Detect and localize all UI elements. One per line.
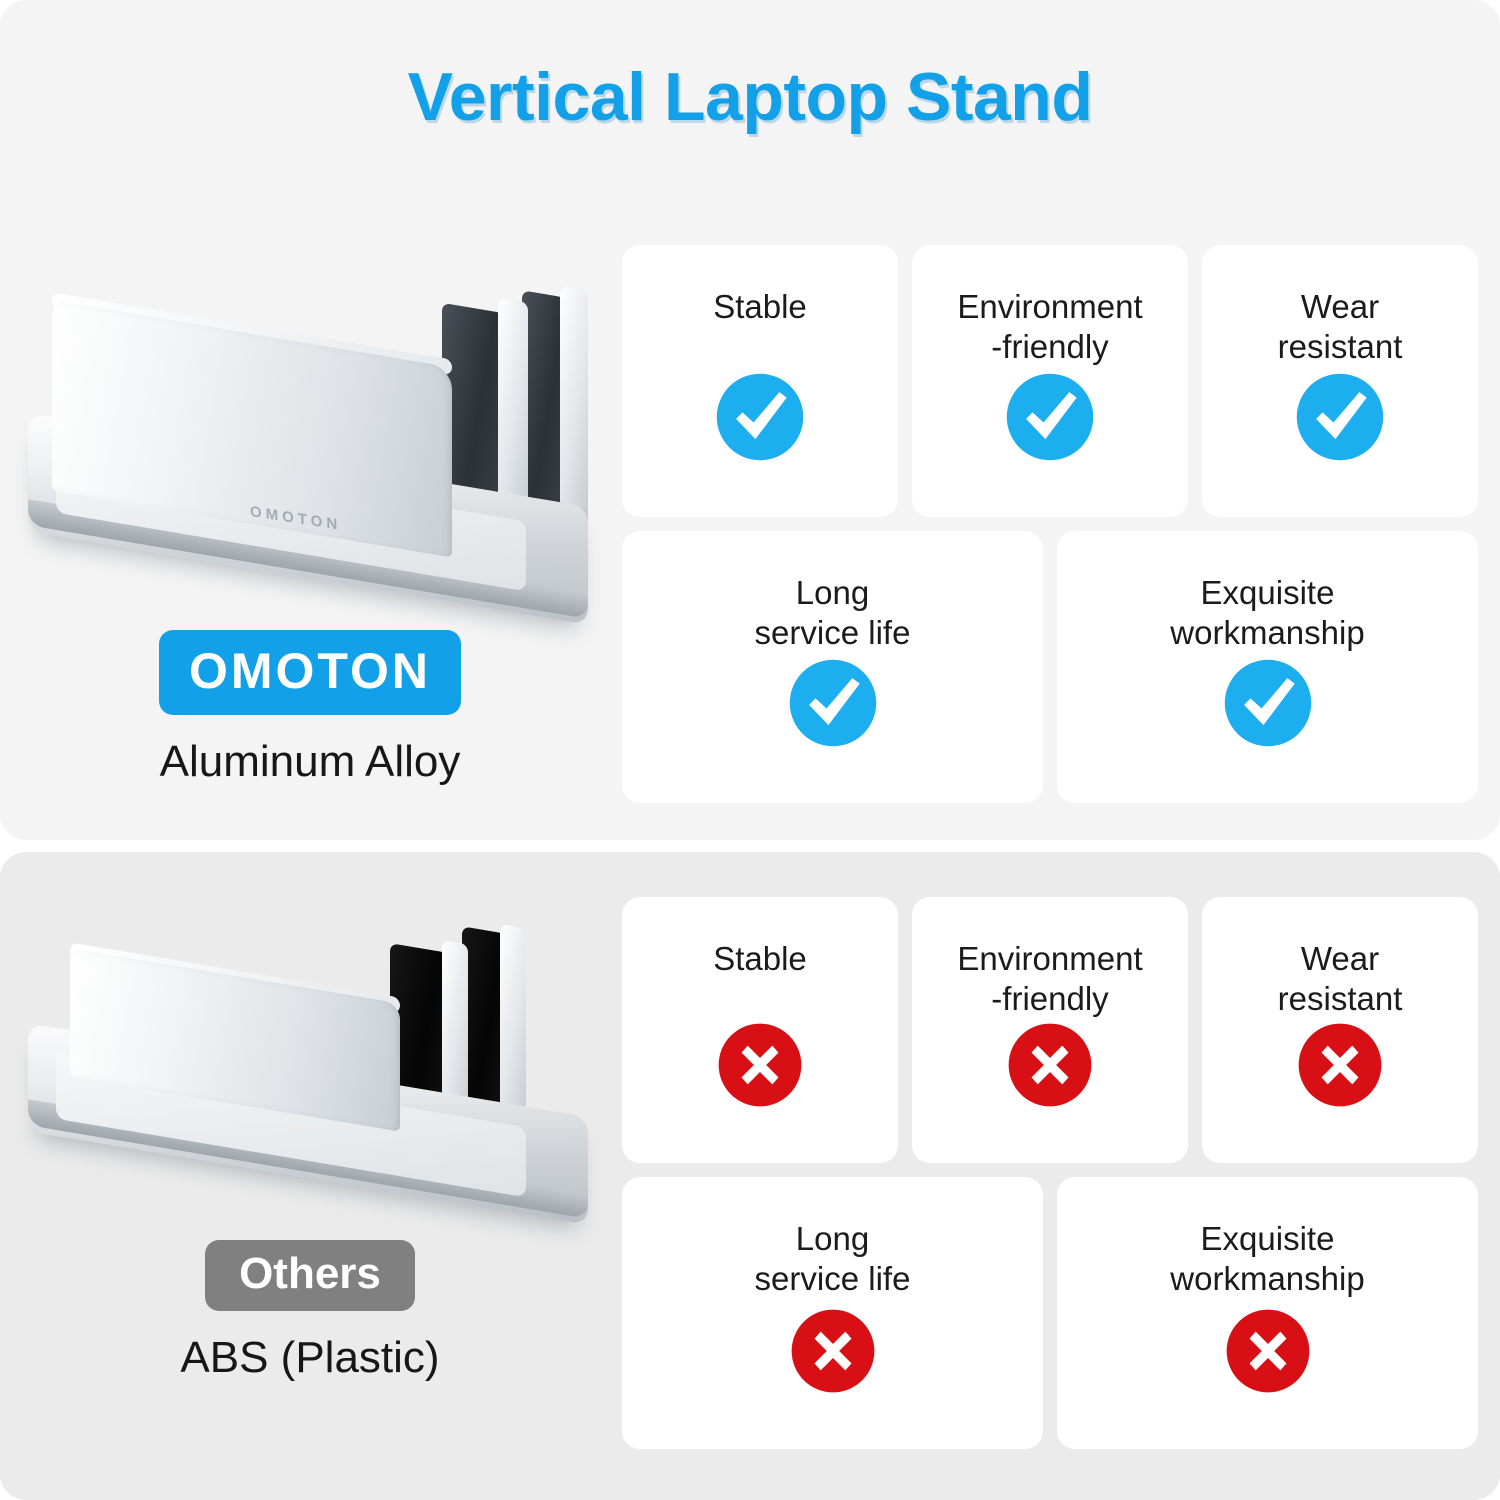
cross-icon: [716, 1021, 804, 1109]
feature-card-stable: Stable: [622, 245, 898, 517]
check-icon: [787, 657, 879, 749]
cross-icon: [1006, 1021, 1094, 1109]
feature-label: Environment -friendly: [957, 287, 1142, 368]
feature-card-wear-resistant: Wear resistant: [1202, 245, 1478, 517]
check-icon: [1004, 371, 1096, 463]
product-column-omoton: OMOTON OMOTON Aluminum Alloy: [10, 300, 610, 787]
feature-row-1: Stable Environment -friendly: [622, 245, 1478, 517]
others-brand-badge: Others: [205, 1240, 415, 1311]
feature-card-stable: Stable: [622, 897, 898, 1163]
material-label-others: ABS (Plastic): [10, 1333, 610, 1383]
material-label-omoton: Aluminum Alloy: [10, 737, 610, 787]
cross-icon: [1224, 1307, 1312, 1395]
feature-label: Long service life: [755, 573, 911, 654]
feature-label: Stable: [713, 287, 807, 327]
feature-label: Long service life: [755, 1219, 911, 1300]
feature-label: Exquisite workmanship: [1170, 573, 1364, 654]
aluminum-laptop-stand-illustration: OMOTON: [10, 300, 610, 630]
product-image-omoton: OMOTON: [10, 300, 610, 630]
cross-icon: [789, 1307, 877, 1395]
infographic-root: Vertical Laptop Stand OMOTON OMOTON Alum…: [0, 0, 1500, 1500]
stand-fin-rear: [560, 286, 588, 529]
feature-row-2: Long service life Exquisite workmanship: [622, 531, 1478, 803]
brand-badge-row-omoton: OMOTON: [10, 630, 610, 715]
feature-label: Wear resistant: [1278, 287, 1403, 368]
product-column-others: Others ABS (Plastic): [10, 880, 610, 1383]
check-icon: [1294, 371, 1386, 463]
feature-grid-others: Stable Environment -friendly: [622, 897, 1478, 1449]
feature-card-long-service-life: Long service life: [622, 1177, 1043, 1449]
omoton-brand-badge: OMOTON: [159, 630, 461, 715]
feature-grid-omoton: Stable Environment -friendly: [622, 245, 1478, 803]
feature-card-wear-resistant: Wear resistant: [1202, 897, 1478, 1163]
feature-card-exquisite-workmanship: Exquisite workmanship: [1057, 1177, 1478, 1449]
feature-card-exquisite-workmanship: Exquisite workmanship: [1057, 531, 1478, 803]
product-image-others: [10, 880, 610, 1240]
plastic-laptop-stand-illustration: [10, 880, 610, 1240]
feature-card-long-service-life: Long service life: [622, 531, 1043, 803]
feature-card-environment-friendly: Environment -friendly: [912, 897, 1188, 1163]
check-icon: [714, 371, 806, 463]
feature-label: Exquisite workmanship: [1170, 1219, 1364, 1300]
page-title: Vertical Laptop Stand: [0, 58, 1500, 136]
feature-label: Stable: [713, 939, 807, 979]
feature-label: Environment -friendly: [957, 939, 1142, 1020]
feature-row-1: Stable Environment -friendly: [622, 897, 1478, 1163]
feature-label: Wear resistant: [1278, 939, 1403, 1020]
feature-row-2: Long service life Exquisite workmanship: [622, 1177, 1478, 1449]
cross-icon: [1296, 1021, 1384, 1109]
feature-card-environment-friendly: Environment -friendly: [912, 245, 1188, 517]
brand-badge-row-others: Others: [10, 1240, 610, 1311]
check-icon: [1222, 657, 1314, 749]
